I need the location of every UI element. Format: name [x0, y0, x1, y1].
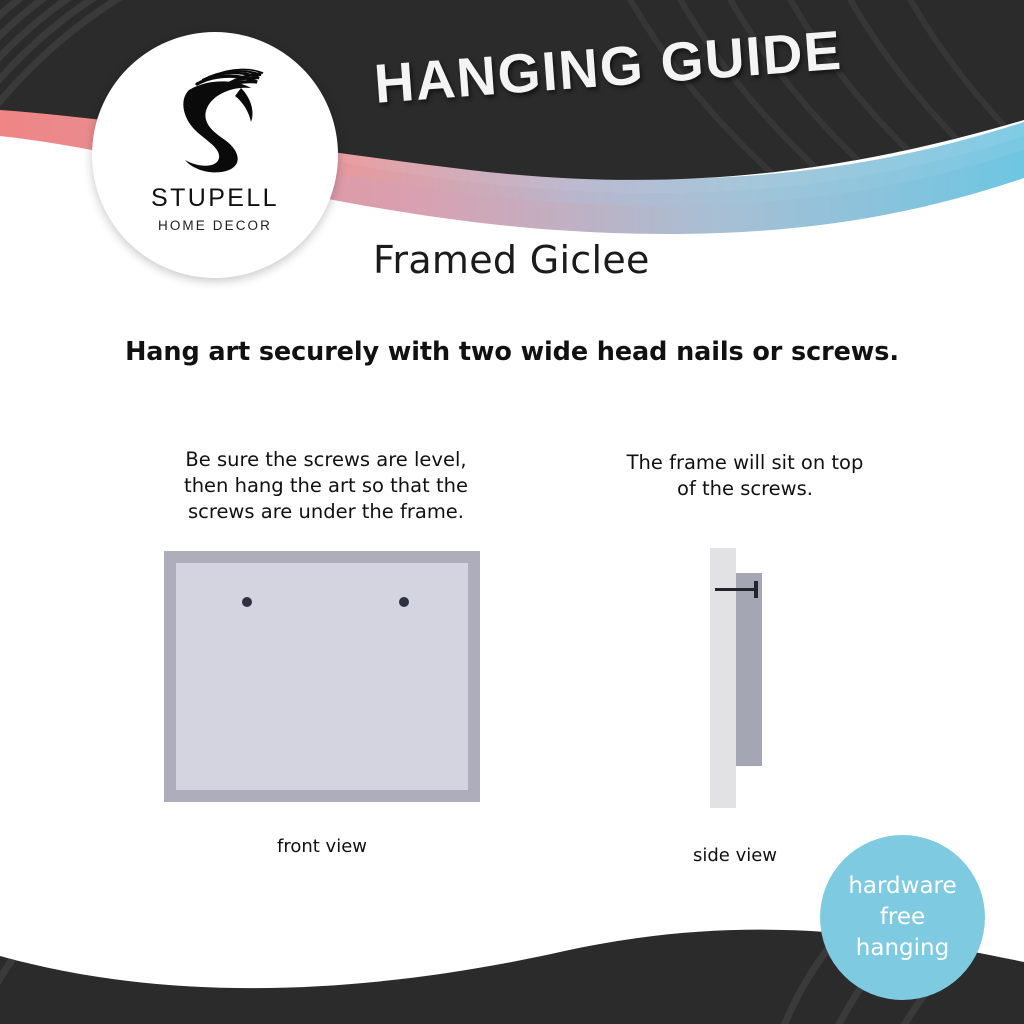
side-view-caption: The frame will sit on top of the screws. [600, 450, 890, 502]
page-title: HANGING GUIDE [372, 18, 844, 116]
product-type-subtitle: Framed Giclee [373, 238, 650, 282]
screw-dot-right-icon [399, 597, 409, 607]
logo-brand-name: STUPELL [151, 184, 279, 213]
front-view-caption: Be sure the screws are level, then hang … [166, 447, 486, 525]
badge-line: hardware [848, 871, 956, 902]
logo-brand-tagline: HOME DECOR [158, 218, 272, 233]
caption-line: then hang the art so that the [166, 473, 486, 499]
side-view-label: side view [660, 845, 810, 866]
caption-line: Be sure the screws are level, [166, 447, 486, 473]
main-instruction-text: Hang art securely with two wide head nai… [0, 337, 1024, 367]
side-view-diagram [710, 548, 820, 810]
caption-line: The frame will sit on top [600, 450, 890, 476]
screw-dot-left-icon [242, 597, 252, 607]
badge-line: free [880, 902, 925, 933]
brand-logo-badge: STUPELL HOME DECOR [92, 32, 338, 278]
hardware-free-hanging-badge: hardware free hanging [820, 835, 985, 1000]
nail-head-icon [754, 581, 758, 598]
side-view-frame [736, 573, 762, 766]
caption-line: screws are under the frame. [166, 499, 486, 525]
front-view-diagram [164, 551, 480, 802]
front-view-label: front view [222, 836, 422, 857]
hanging-guide-page: STUPELL HOME DECOR HANGING GUIDE Framed … [0, 0, 1024, 1024]
front-view-art-panel [176, 563, 468, 790]
caption-line: of the screws. [600, 476, 890, 502]
stupell-swoosh-icon [155, 60, 275, 180]
badge-line: hanging [856, 933, 949, 964]
side-view-wall [710, 548, 736, 808]
nail-shaft-icon [715, 588, 757, 591]
